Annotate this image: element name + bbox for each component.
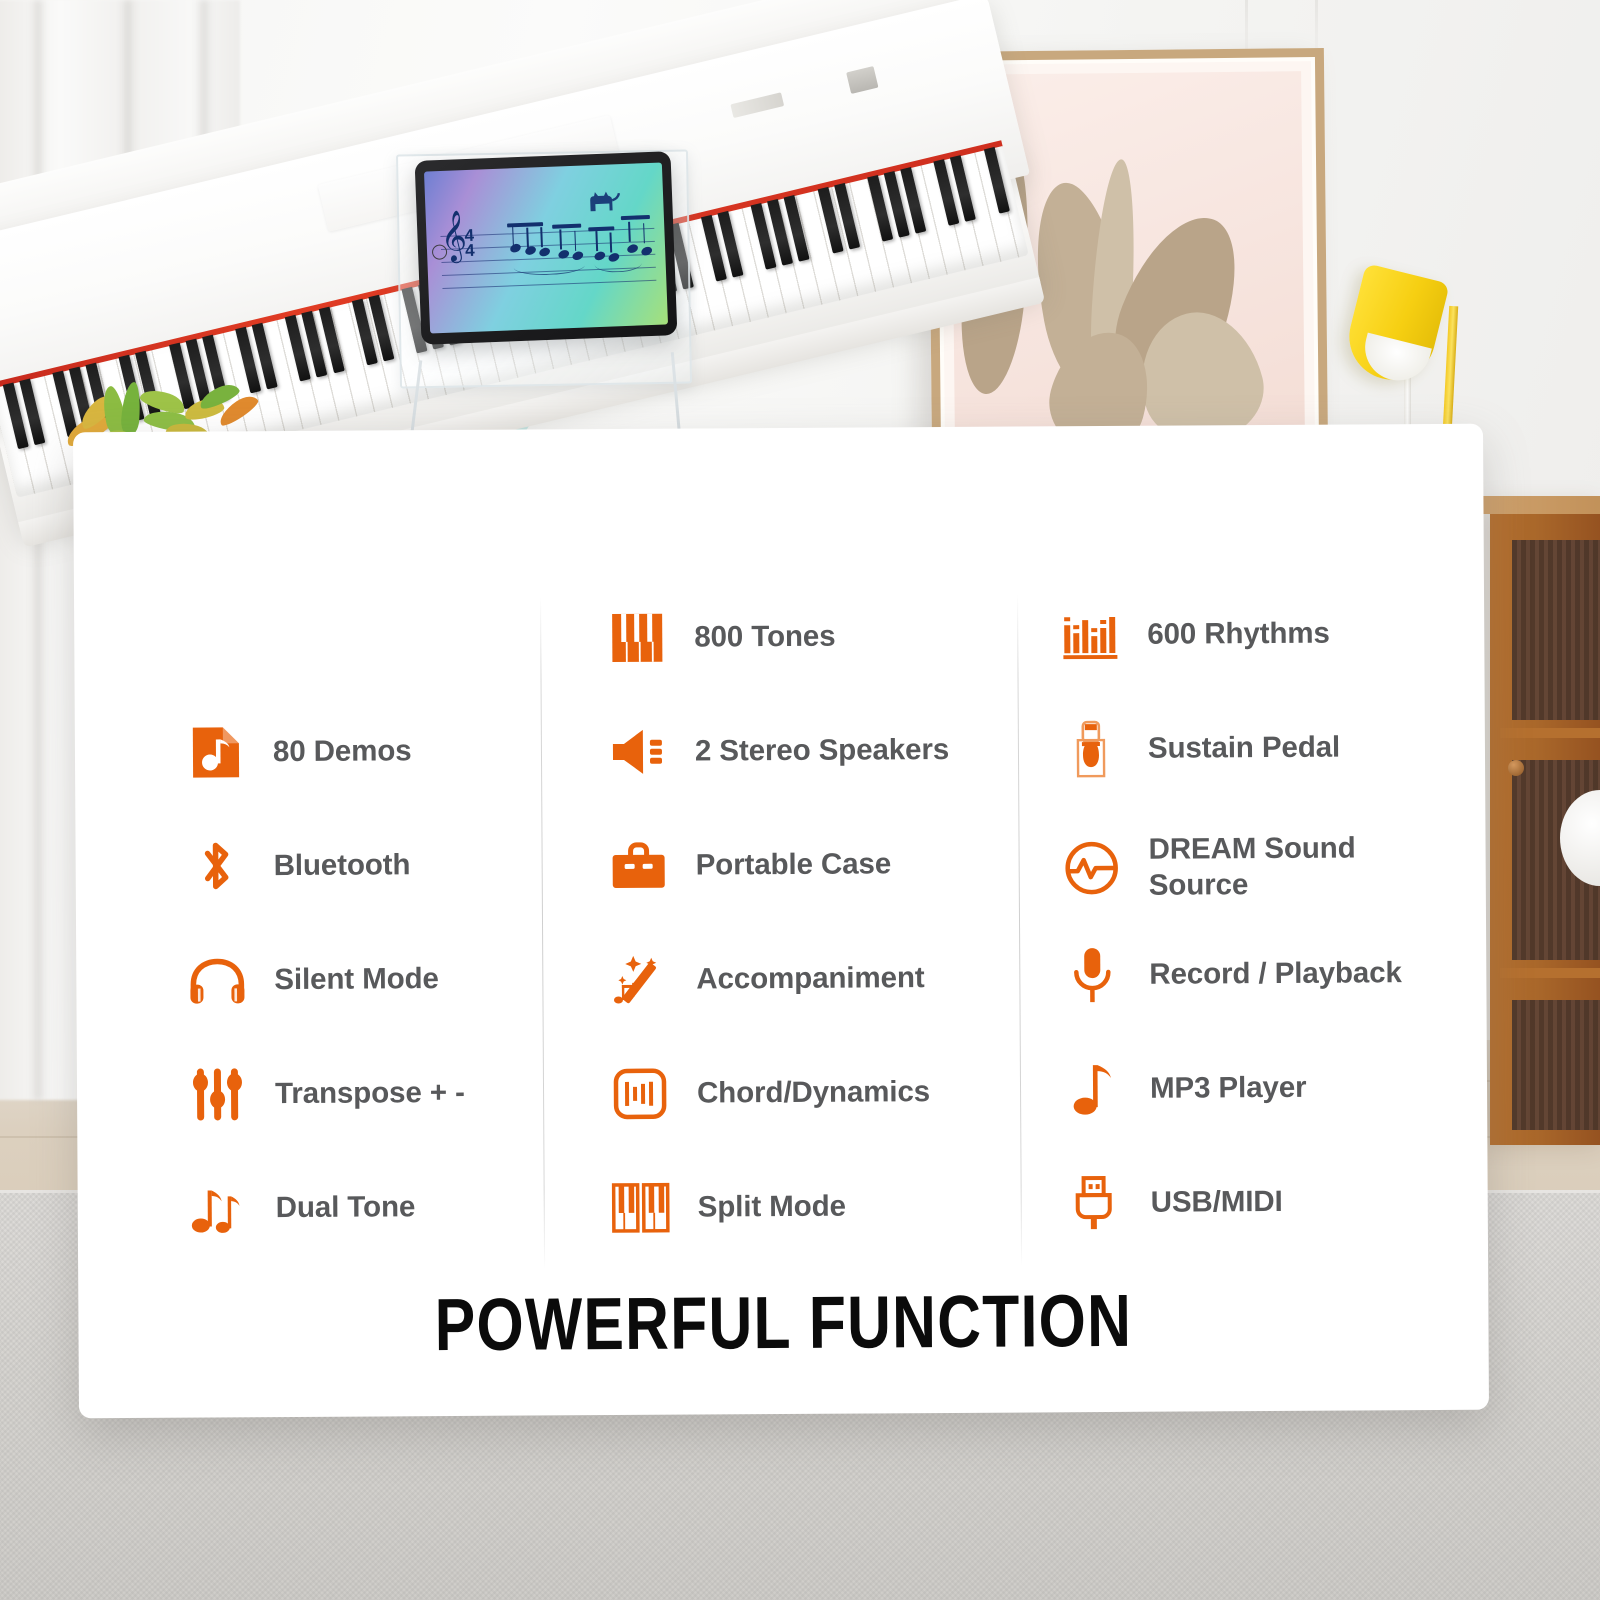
feature-label: Accompaniment [696, 960, 924, 997]
feature-item[interactable]: Portable Case [607, 833, 949, 897]
feature-label: DREAM Sound Source [1148, 830, 1428, 904]
tablet-screen: 𝄞 44 [424, 162, 668, 333]
cabinet-knob [1508, 760, 1524, 776]
feature-item[interactable]: Record / Playback [1061, 942, 1429, 1006]
feature-item[interactable]: Dual Tone [188, 1176, 466, 1240]
feature-card: 80 Demos Bluetooth Silent Mode Transpose… [73, 424, 1489, 1419]
microphone-icon [1061, 944, 1123, 1006]
double-note-icon [188, 1177, 250, 1239]
feature-label: 800 Tones [694, 619, 835, 656]
bar-chart-icon [1059, 604, 1121, 666]
feature-item[interactable]: 600 Rhythms [1059, 602, 1427, 666]
usb-icon [1063, 1172, 1125, 1234]
cabinet-shelf [1500, 968, 1600, 978]
sliders-icon [187, 1063, 249, 1125]
feature-item[interactable]: 800 Tones [606, 605, 948, 669]
feature-label: Dual Tone [276, 1189, 416, 1226]
feature-item[interactable]: Sustain Pedal [1060, 716, 1428, 780]
cabinet-shelf [1500, 728, 1600, 738]
feature-label: Bluetooth [274, 847, 411, 884]
magic-wand-icon [608, 949, 670, 1011]
waveform-circle-icon [1060, 837, 1122, 899]
feature-label: Transpose + - [275, 1075, 465, 1112]
feature-item[interactable]: 2 Stereo Speakers [607, 719, 949, 783]
eighth-note-icon [1062, 1058, 1124, 1120]
feature-label: Split Mode [698, 1189, 846, 1226]
feature-item[interactable]: MP3 Player [1062, 1056, 1430, 1120]
feature-item[interactable]: Split Mode [610, 1175, 952, 1239]
feature-item[interactable]: Chord/Dynamics [609, 1061, 951, 1125]
cat-illustration [586, 190, 621, 213]
feature-item[interactable]: 80 Demos [185, 720, 463, 784]
feature-item[interactable]: Transpose + - [187, 1062, 465, 1126]
tablet-device: 𝄞 44 [415, 151, 678, 345]
piano-keys-icon [606, 607, 668, 669]
feature-label: Sustain Pedal [1148, 730, 1340, 767]
cabinet-glass-panel [1512, 540, 1600, 720]
product-feature-banner: /* black keys generated below */ 𝄞 44 [0, 0, 1600, 1600]
music-file-icon [185, 721, 247, 783]
feature-item[interactable]: Bluetooth [185, 834, 463, 898]
feature-label: 600 Rhythms [1147, 616, 1330, 653]
headline: POWERFUL FUNCTION [205, 1276, 1362, 1368]
split-keys-icon [610, 1177, 672, 1239]
column-left: 80 Demos Bluetooth Silent Mode Transpose… [185, 720, 466, 1240]
feature-item[interactable]: USB/MIDI [1063, 1170, 1431, 1234]
sustain-pedal-icon [1060, 718, 1122, 780]
feature-label: MP3 Player [1150, 1070, 1307, 1107]
bluetooth-icon [185, 835, 247, 897]
feature-label: Silent Mode [274, 961, 439, 998]
feature-item[interactable]: DREAM Sound Source [1060, 830, 1428, 904]
feature-label: 2 Stereo Speakers [695, 732, 949, 770]
feature-label: Portable Case [696, 846, 892, 883]
column-middle: 800 Tones 2 Stereo Speakers Portable Cas… [606, 605, 952, 1239]
headphones-icon [186, 949, 248, 1011]
feature-label: 80 Demos [273, 733, 412, 770]
cabinet-top [1478, 496, 1600, 514]
column-divider [540, 597, 545, 1269]
column-divider [1017, 595, 1022, 1267]
feature-label: USB/MIDI [1151, 1184, 1283, 1221]
feature-label: Record / Playback [1149, 955, 1402, 993]
feature-label: Chord/Dynamics [697, 1074, 930, 1111]
equalizer-box-icon [609, 1063, 671, 1125]
feature-item[interactable]: Silent Mode [186, 948, 464, 1012]
toolbox-icon [607, 835, 669, 897]
time-signature: 44 [464, 228, 475, 258]
speaker-icon [607, 721, 669, 783]
cabinet-glass-panel [1512, 1000, 1600, 1130]
feature-item[interactable]: Accompaniment [608, 947, 950, 1011]
column-right: 600 Rhythms Sustain Pedal DREAM Sound So… [1059, 602, 1431, 1234]
